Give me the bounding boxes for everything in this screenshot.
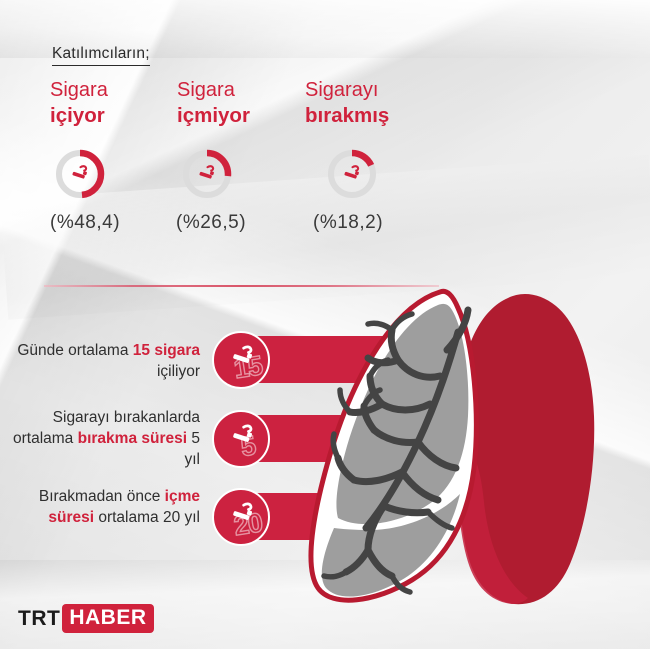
infographic-canvas: Katılımcıların; Sigara içiyor Sigara içm… xyxy=(0,0,650,649)
gauge-smokers xyxy=(53,147,107,201)
cigarette-icon xyxy=(325,147,379,201)
trt-haber-logo: TRT HABER xyxy=(18,604,154,633)
fact-text-highlight: bırakma süresi xyxy=(78,430,187,447)
fact-text-before: Bırakmadan önce xyxy=(39,488,165,505)
stat-column-nonsmokers: Sigara içmiyor xyxy=(177,78,250,129)
fact-text-before: Günde ortalama xyxy=(17,342,132,359)
stat-label-line1: Sigara xyxy=(50,78,108,103)
fact-label-2: Sigarayı bırakanlarda ortalama bırakma s… xyxy=(10,407,200,470)
fact-text-after: 5 yıl xyxy=(185,430,201,468)
page-title: Katılımcıların; xyxy=(52,45,150,66)
fact-badge-number: 15 xyxy=(215,334,281,400)
stat-label-line1: Sigara xyxy=(177,78,250,103)
fact-label-3: Bırakmadan önce içme süresi ortalama 20 … xyxy=(10,486,200,528)
fact-text-highlight: 15 sigara xyxy=(133,342,200,359)
stat-column-quitters: Sigarayı bırakmış xyxy=(305,78,389,129)
stat-percent-quitters: (%18,2) xyxy=(313,212,383,234)
lungs-illustration xyxy=(262,280,650,615)
fact-text-after: ortalama 20 yıl xyxy=(94,509,200,526)
fact-badge-number: 5 xyxy=(215,413,281,479)
logo-haber: HABER xyxy=(62,604,153,633)
fact-badge-2: 5 xyxy=(212,410,270,468)
stat-label-line2: bırakmış xyxy=(305,103,389,129)
gauge-quitters xyxy=(325,147,379,201)
fact-badge-number: 20 xyxy=(215,491,281,557)
gauge-nonsmokers xyxy=(180,147,234,201)
stat-label-line1: Sigarayı xyxy=(305,78,389,103)
cigarette-icon xyxy=(53,147,107,201)
fact-badge-1: 15 xyxy=(212,331,270,389)
fact-text-after: içiliyor xyxy=(157,363,200,380)
cigarette-icon xyxy=(180,147,234,201)
fact-label-1: Günde ortalama 15 sigara içiliyor xyxy=(10,340,200,382)
stat-column-smokers: Sigara içiyor xyxy=(50,78,108,129)
stat-label-line2: içmiyor xyxy=(177,103,250,129)
stat-percent-nonsmokers: (%26,5) xyxy=(176,212,246,234)
logo-trt: TRT xyxy=(18,607,60,631)
stat-percent-smokers: (%48,4) xyxy=(50,212,120,234)
fact-badge-3: 20 xyxy=(212,488,270,546)
stat-label-line2: içiyor xyxy=(50,103,108,129)
